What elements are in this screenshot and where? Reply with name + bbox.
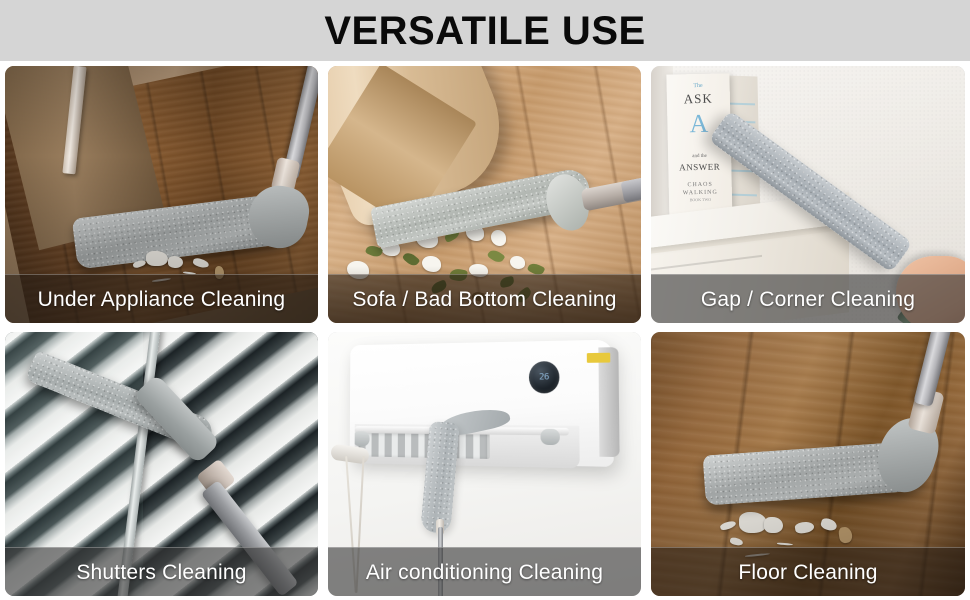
panel-cell-air-conditioning-cleaning: 26 bbox=[323, 327, 646, 600]
book-line-7: WALKING bbox=[669, 189, 732, 196]
panel-air-conditioning-cleaning[interactable]: 26 bbox=[328, 332, 641, 596]
panel-sofa-bed-bottom-cleaning[interactable]: Sofa / Bad Bottom Cleaning bbox=[328, 66, 641, 323]
ac-side-panel bbox=[598, 347, 619, 457]
panel-shutters-cleaning[interactable]: Shutters Cleaning bbox=[5, 332, 318, 596]
ac-warning-label bbox=[587, 352, 610, 362]
panel-cell-under-appliance-cleaning: Under Appliance Cleaning bbox=[0, 61, 323, 327]
panel-floor-cleaning[interactable]: Floor Cleaning bbox=[651, 332, 965, 596]
panel-under-appliance-cleaning[interactable]: Under Appliance Cleaning bbox=[5, 66, 318, 323]
ac-display-readout: 26 bbox=[539, 372, 549, 382]
panel-caption-bar: Under Appliance Cleaning bbox=[5, 274, 318, 323]
panel-caption-bar: Floor Cleaning bbox=[651, 547, 965, 596]
panel-caption-bar: Sofa / Bad Bottom Cleaning bbox=[328, 274, 641, 323]
ac-display: 26 bbox=[529, 361, 559, 394]
panel-cell-gap-corner-cleaning: The ASK A and the ANSWER CHAOS WALKING B… bbox=[646, 61, 970, 327]
panel-caption-bar: Air conditioning Cleaning bbox=[328, 547, 641, 596]
ac-endcap-left bbox=[354, 431, 369, 446]
air-conditioner-unit: 26 bbox=[350, 340, 614, 468]
book-line-8: BOOK TWO bbox=[669, 196, 732, 202]
book-line-6: CHAOS bbox=[669, 181, 732, 188]
panel-grid: Under Appliance Cleaning bbox=[0, 61, 970, 600]
panel-cell-sofa-bed-bottom-cleaning: Sofa / Bad Bottom Cleaning bbox=[323, 61, 646, 327]
book-line-5: ANSWER bbox=[668, 161, 731, 172]
panel-caption-text: Under Appliance Cleaning bbox=[38, 289, 286, 310]
ac-endcap-right bbox=[541, 429, 560, 445]
panel-caption-text: Air conditioning Cleaning bbox=[366, 562, 603, 583]
panel-caption-text: Floor Cleaning bbox=[738, 562, 877, 583]
book-line-1: The bbox=[667, 82, 730, 89]
book-line-4: and the bbox=[668, 153, 731, 159]
panel-caption-bar: Shutters Cleaning bbox=[5, 547, 318, 596]
book-line-2: ASK bbox=[667, 90, 730, 107]
page-title: VERSATILE USE bbox=[324, 11, 645, 51]
panel-caption-text: Shutters Cleaning bbox=[76, 562, 246, 583]
panel-gap-corner-cleaning[interactable]: The ASK A and the ANSWER CHAOS WALKING B… bbox=[651, 66, 965, 323]
infographic-root: VERSATILE USE bbox=[0, 0, 970, 600]
header-bar: VERSATILE USE bbox=[0, 0, 970, 61]
panel-cell-floor-cleaning: Floor Cleaning bbox=[646, 327, 970, 600]
panel-cell-shutters-cleaning: Shutters Cleaning bbox=[0, 327, 323, 600]
panel-caption-text: Sofa / Bad Bottom Cleaning bbox=[352, 289, 616, 310]
panel-caption-bar: Gap / Corner Cleaning bbox=[651, 274, 965, 323]
panel-caption-text: Gap / Corner Cleaning bbox=[701, 289, 915, 310]
